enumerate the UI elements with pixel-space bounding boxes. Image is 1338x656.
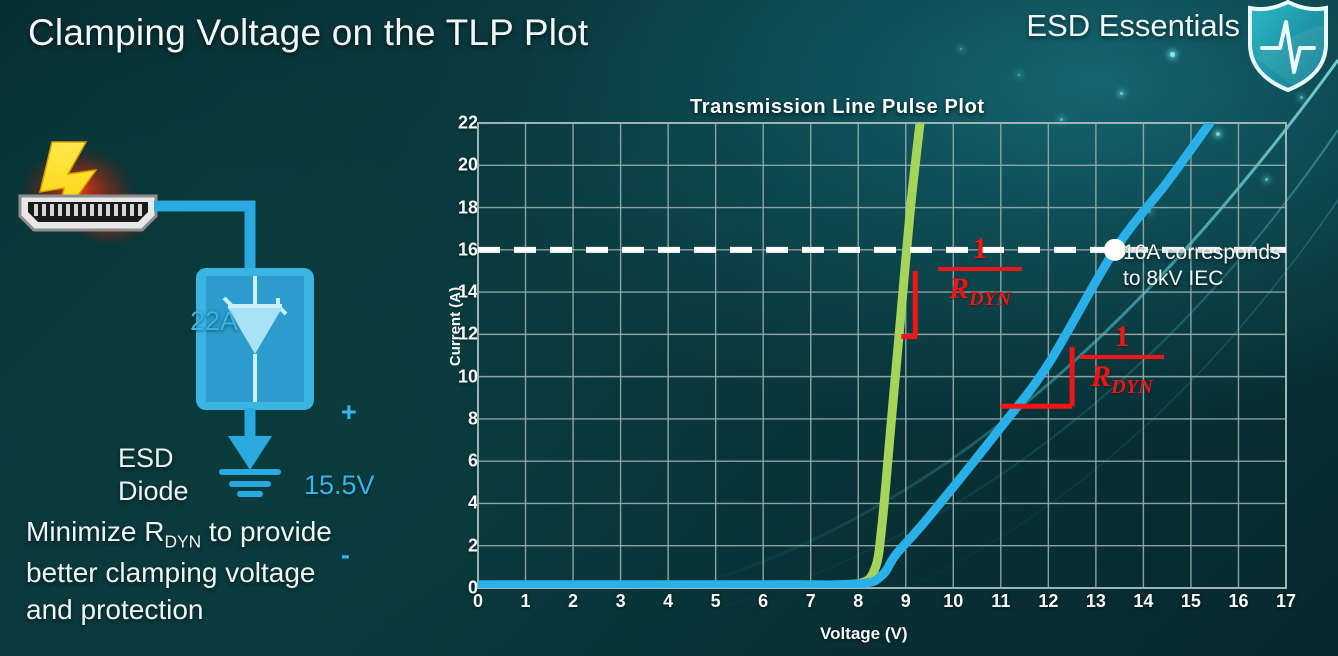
ground-symbol-icon bbox=[222, 472, 278, 494]
fraction-numerator: 1 bbox=[938, 234, 1022, 264]
shield-heartbeat-icon bbox=[1242, 0, 1334, 94]
hdmi-connector-icon bbox=[20, 196, 156, 230]
current-label: 22A bbox=[190, 306, 238, 337]
rdyn-subscript: DYN bbox=[164, 532, 201, 552]
fraction-denominator-sub: DYN bbox=[1111, 376, 1153, 398]
clamping-callout-line-1: 16A corresponds bbox=[1123, 240, 1281, 266]
rdyn-fraction-annotation-1: 1 RDYN bbox=[938, 234, 1022, 310]
slide-root: Clamping Voltage on the TLP Plot ESD Ess… bbox=[0, 0, 1338, 656]
fraction-bar bbox=[938, 267, 1022, 271]
takeaway-text: Minimize RDYN to provide better clamping… bbox=[26, 513, 426, 628]
current-arrow-icon bbox=[228, 436, 272, 470]
fraction-denominator-sub: DYN bbox=[969, 288, 1011, 310]
fraction-numerator: 1 bbox=[1080, 322, 1164, 352]
esd-diode-box bbox=[196, 268, 314, 410]
fraction-denominator: RDYN bbox=[938, 273, 1022, 310]
polarity-plus-label: + bbox=[341, 397, 357, 428]
series-line bbox=[478, 123, 920, 585]
esd-diode-label: ESD Diode bbox=[118, 442, 189, 508]
esd-diode-label-line2: Diode bbox=[118, 475, 189, 508]
fraction-bar bbox=[1080, 355, 1164, 359]
takeaway-line-2: better clamping voltage bbox=[26, 554, 426, 591]
fraction-denominator: RDYN bbox=[1080, 361, 1164, 398]
clamping-callout-line-2: to 8kV IEC bbox=[1123, 266, 1281, 292]
esd-diode-label-line1: ESD bbox=[118, 442, 189, 475]
chart-series bbox=[478, 123, 920, 585]
esd-circuit-diagram: 22A ESD Diode 15.5V + - bbox=[0, 140, 420, 510]
takeaway-line-1-post: to provide bbox=[201, 516, 332, 547]
clamping-voltage-label: 15.5V bbox=[304, 470, 375, 501]
fraction-denominator-base: R bbox=[949, 272, 969, 305]
takeaway-line-1-pre: Minimize R bbox=[26, 516, 164, 547]
takeaway-line-1: Minimize RDYN to provide bbox=[26, 513, 426, 554]
chart-plot-area bbox=[420, 86, 1338, 656]
signal-wire bbox=[154, 206, 250, 268]
page-title: Clamping Voltage on the TLP Plot bbox=[28, 12, 588, 54]
brand-label: ESD Essentials bbox=[1026, 8, 1240, 44]
tlp-chart: Transmission Line Pulse Plot Current (A)… bbox=[420, 86, 1338, 656]
clamping-callout: 16A corresponds to 8kV IEC bbox=[1123, 240, 1281, 291]
rdyn-fraction-annotation-2: 1 RDYN bbox=[1080, 322, 1164, 398]
takeaway-line-3: and protection bbox=[26, 591, 426, 628]
fraction-denominator-base: R bbox=[1091, 360, 1111, 393]
